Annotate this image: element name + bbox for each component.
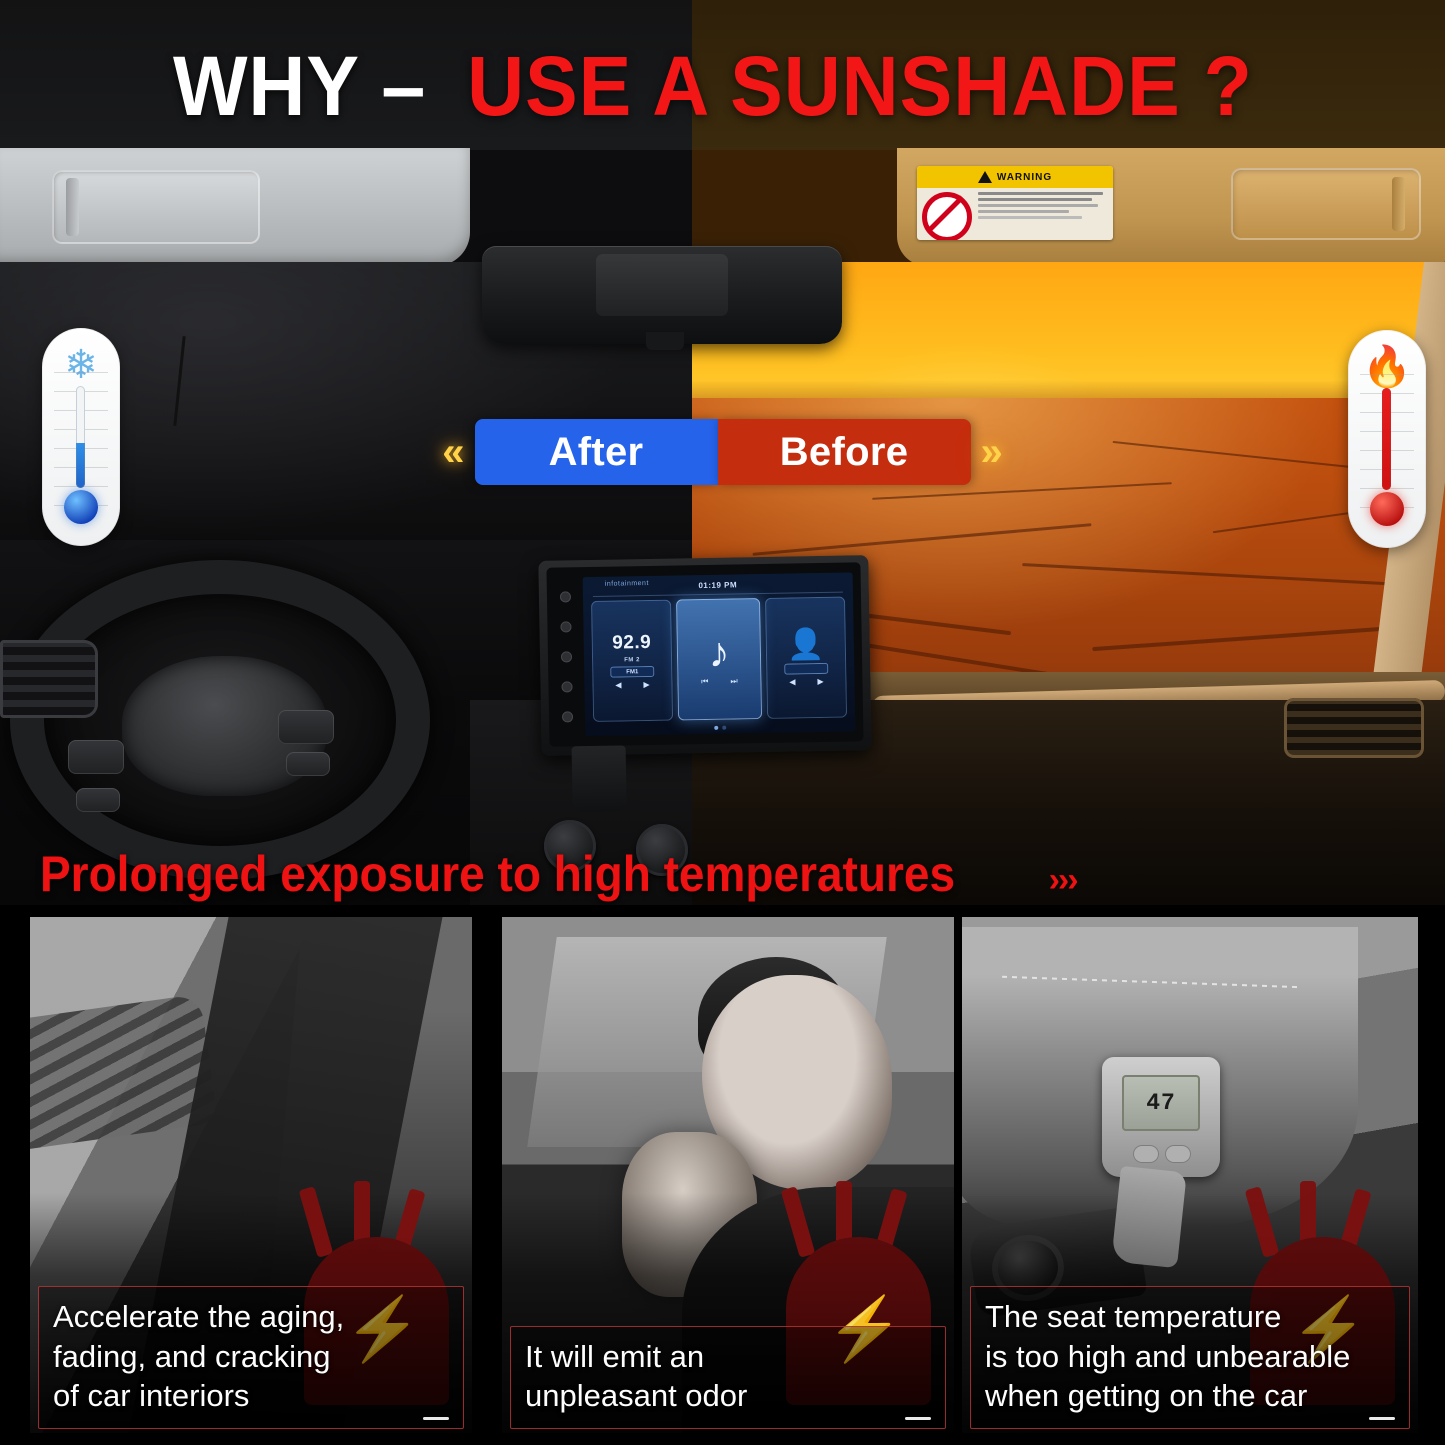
- panel-caption: It will emit an unpleasant odor: [510, 1326, 946, 1429]
- radio-prev-icon[interactable]: ◀: [615, 680, 621, 689]
- left-air-vent: [0, 640, 98, 718]
- steering-wheel-button-left-2: [76, 788, 120, 812]
- mirror-stem: [646, 332, 684, 350]
- head-unit-mount: [572, 745, 627, 812]
- radio-tuning-arrows[interactable]: ◀ ▶: [615, 680, 649, 690]
- caption-underline: [905, 1417, 931, 1420]
- head-unit-side-buttons[interactable]: [553, 581, 580, 732]
- radio-next-icon[interactable]: ▶: [643, 680, 649, 689]
- thermometer-gun-buttons[interactable]: [1116, 1139, 1208, 1169]
- chevron-right-icon: »: [971, 432, 1013, 472]
- panel-caption: Accelerate the aging, fading, and cracki…: [38, 1286, 464, 1429]
- steering-wheel-button-left: [68, 740, 124, 774]
- after-badge[interactable]: After: [475, 419, 718, 485]
- panel-aging-interiors: ⚡ Accelerate the aging, fading, and crac…: [30, 917, 472, 1433]
- radio-preset[interactable]: FM1: [610, 666, 655, 678]
- radio-band: FM 2: [624, 657, 640, 663]
- head-unit-bezel: infotainment 01:19 PM 92.9 FM 2 FM1 ◀ ▶: [546, 562, 863, 746]
- contact-next-icon[interactable]: ▶: [817, 676, 823, 685]
- contact-prev-icon[interactable]: ◀: [789, 677, 795, 686]
- before-visor-mirror: [1231, 168, 1421, 240]
- music-note-icon: ♪: [708, 632, 730, 674]
- panel-caption-text: It will emit an unpleasant odor: [525, 1337, 931, 1416]
- thermometer-gun-button[interactable]: [1165, 1145, 1191, 1163]
- page-indicator-dots[interactable]: [585, 721, 855, 734]
- airbag-warning-label: WARNING: [917, 166, 1113, 240]
- page-dot-active[interactable]: [714, 726, 718, 730]
- mid-headline: Prolonged exposure to high temperatures …: [40, 845, 1077, 903]
- track-next-icon[interactable]: ⏭: [730, 676, 737, 686]
- panel-caption-text: The seat temperature is too high and unb…: [985, 1297, 1395, 1416]
- right-air-vent: [1284, 698, 1424, 758]
- panel-seat-temperature: 47 ⚡ The seat temperature: [962, 917, 1418, 1433]
- head-unit-side-button[interactable]: [560, 651, 571, 662]
- head-unit-side-button[interactable]: [561, 712, 572, 723]
- head-unit-side-button[interactable]: [559, 591, 570, 602]
- before-after-badge-row: « After Before »: [0, 417, 1445, 487]
- after-visor-mirror: [52, 170, 260, 244]
- panel-unpleasant-odor: ⚡ It will emit an unpleasant odor: [502, 917, 954, 1433]
- warning-label-header: WARNING: [917, 166, 1113, 188]
- caption-underline: [423, 1417, 449, 1420]
- thermometer-bulb: [64, 490, 98, 524]
- head-unit-cards: 92.9 FM 2 FM1 ◀ ▶ ♪ ⏮: [591, 597, 847, 722]
- after-sun-visor: [0, 148, 470, 266]
- warning-label-body: [917, 188, 1113, 240]
- page-dot[interactable]: [722, 726, 726, 730]
- steering-wheel-button-right: [278, 710, 334, 744]
- head-unit-side-button[interactable]: [560, 621, 571, 632]
- head-unit-side-button[interactable]: [561, 681, 572, 692]
- contact-pill[interactable]: [784, 662, 829, 674]
- mid-headline-chevrons: ›››: [1049, 861, 1077, 900]
- thermometer-gun-reading: 47: [1122, 1075, 1200, 1131]
- dashcam-body: [596, 254, 728, 316]
- rearview-mirror-dashcam: [482, 246, 842, 344]
- media-card[interactable]: ♪ ⏮ ⏭: [676, 598, 762, 720]
- before-headliner: [692, 0, 1445, 150]
- steering-wheel-button-right-2: [286, 752, 330, 776]
- infrared-thermometer-gun: 47: [1102, 1057, 1222, 1262]
- before-sun-visor: WARNING: [897, 148, 1445, 266]
- thermometer-gun-body: 47: [1102, 1057, 1220, 1177]
- chevron-left-icon: «: [432, 432, 474, 472]
- phone-card[interactable]: 👤 ◀ ▶: [765, 597, 847, 719]
- panel-caption: The seat temperature is too high and unb…: [970, 1286, 1410, 1429]
- steering-wheel: [10, 560, 430, 890]
- thermometer-gun-grip: [1111, 1166, 1187, 1268]
- warning-label-text-lines: [978, 192, 1108, 240]
- warning-triangle-icon: [978, 171, 992, 183]
- thermometer-gun-button[interactable]: [1133, 1145, 1159, 1163]
- track-prev-icon[interactable]: ⏮: [701, 677, 708, 687]
- panel-caption-text: Accelerate the aging, fading, and cracki…: [53, 1297, 449, 1416]
- head-unit-screen[interactable]: infotainment 01:19 PM 92.9 FM 2 FM1 ◀ ▶: [583, 572, 856, 736]
- person-icon: 👤: [787, 629, 825, 660]
- before-badge[interactable]: Before: [718, 419, 971, 485]
- contact-arrows[interactable]: ◀ ▶: [789, 676, 823, 686]
- thermometer-bulb: [1370, 492, 1404, 526]
- media-transport-controls[interactable]: ⏮ ⏭: [701, 676, 738, 687]
- consequence-panels: ⚡ Accelerate the aging, fading, and crac…: [0, 905, 1445, 1445]
- radio-card[interactable]: 92.9 FM 2 FM1 ◀ ▶: [591, 600, 673, 722]
- hero-before-after-comparison: WARNING: [0, 0, 1445, 905]
- radio-frequency: 92.9: [612, 632, 651, 655]
- infotainment-head-unit: infotainment 01:19 PM 92.9 FM 2 FM1 ◀ ▶: [538, 555, 871, 756]
- caption-underline: [1369, 1417, 1395, 1420]
- warning-label-heading: WARNING: [997, 172, 1052, 183]
- sunshade-infographic: WARNING: [0, 0, 1445, 1445]
- mid-headline-text: Prolonged exposure to high temperatures: [40, 845, 955, 903]
- after-headliner: [0, 0, 692, 150]
- no-child-seat-icon: [922, 192, 972, 240]
